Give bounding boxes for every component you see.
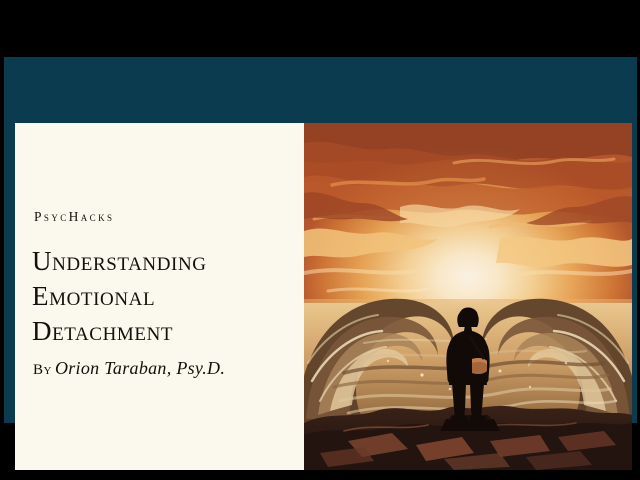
title-line-3: Detachment [32,314,297,349]
slide-border: PsycHacks Understanding Emotional Detach… [4,57,637,423]
slide: PsycHacks Understanding Emotional Detach… [15,123,632,470]
sunset-seascape-illustration [304,123,632,470]
page-title: Understanding Emotional Detachment [32,244,297,349]
video-frame: PsycHacks Understanding Emotional Detach… [0,0,640,480]
title-line-1: Understanding [32,244,297,279]
title-panel: PsycHacks Understanding Emotional Detach… [15,123,304,470]
byline: ByOrion Taraban, Psy.D. [33,358,225,379]
show-name-kicker: PsycHacks [34,209,114,225]
byline-prefix: By [33,362,52,378]
title-line-2: Emotional [32,279,297,314]
byline-author: Orion Taraban, Psy.D. [55,358,225,378]
artwork-panel [304,123,632,470]
